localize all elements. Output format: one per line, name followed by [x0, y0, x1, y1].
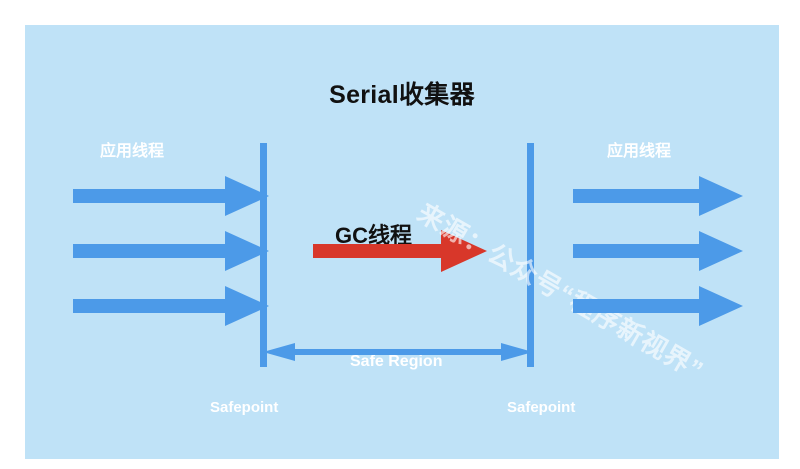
app-thread-arrow-right-2 [573, 231, 745, 271]
app-thread-arrow-right-1 [573, 176, 745, 216]
app-thread-arrow-left-3 [73, 286, 273, 326]
safe-region-double-arrow [263, 342, 533, 362]
figure-canvas: Serial收集器 应用线程 应用线程 GC线程 来源：公众号“程序新视界” [0, 0, 800, 469]
gc-thread-arrow [313, 230, 489, 272]
label-app-thread-left: 应用线程 [100, 137, 164, 161]
label-safepoint-left: Safepoint [210, 399, 278, 416]
diagram-panel: Serial收集器 应用线程 应用线程 GC线程 来源：公众号“程序新视界” [25, 25, 779, 459]
page-title: Serial收集器 [25, 75, 779, 111]
safepoint-bar-right [527, 143, 534, 367]
label-safepoint-right: Safepoint [507, 399, 575, 416]
label-app-thread-right: 应用线程 [607, 137, 671, 161]
safepoint-bar-left [260, 143, 267, 367]
app-thread-arrow-left-1 [73, 176, 273, 216]
app-thread-arrow-left-2 [73, 231, 273, 271]
app-thread-arrow-right-3 [573, 286, 745, 326]
